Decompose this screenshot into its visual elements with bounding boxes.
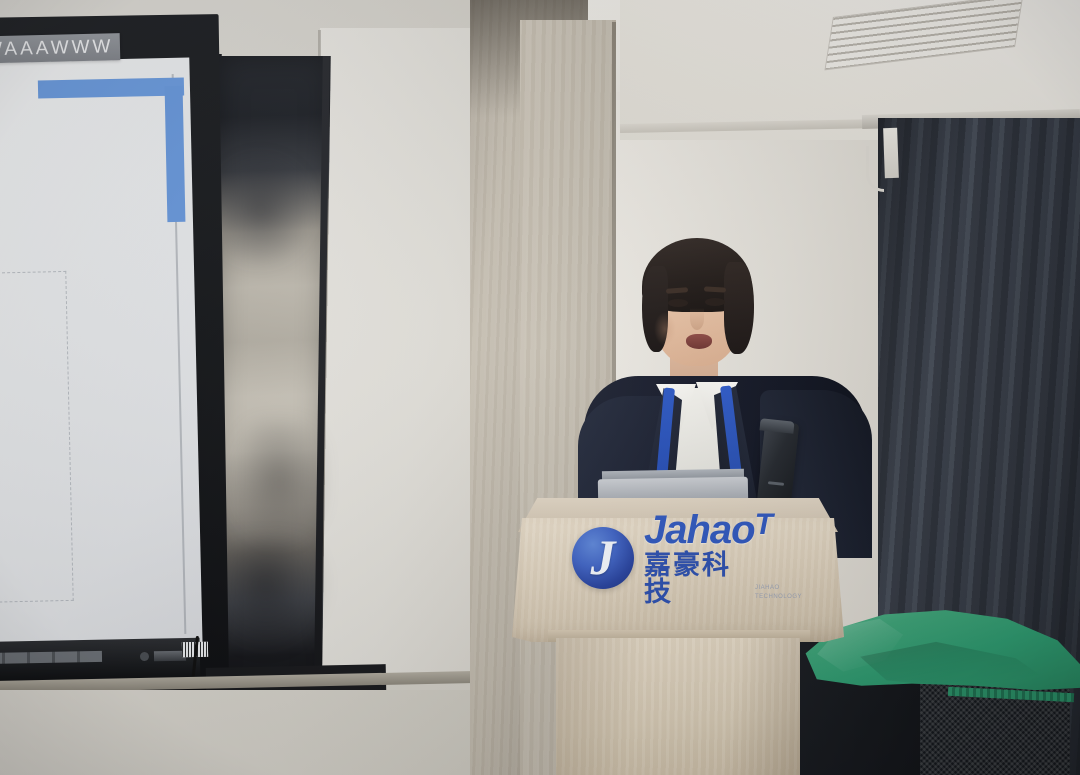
mirror-reflection-b xyxy=(224,420,324,550)
eye-left xyxy=(668,299,688,307)
podium-base-shading xyxy=(556,638,800,775)
logo-orb-j-icon xyxy=(572,527,634,589)
logo-brand-en-main: Jahao xyxy=(644,508,755,552)
logo-brand-cn: 嘉豪科技 xyxy=(644,552,749,606)
blue-bracket-horizontal xyxy=(38,77,184,98)
podium-brand-logo: JahaoT 嘉豪科技 JIAHAO TECHNOLOGY xyxy=(572,512,802,604)
audio-jack-port-icon xyxy=(140,652,149,661)
presentation-photo: SWAAAWWW xyxy=(0,0,1080,775)
left-wall-lower xyxy=(0,690,470,775)
left-wall-upper-panel xyxy=(320,28,475,683)
eye-right xyxy=(705,298,725,306)
mirror-reflection-c xyxy=(218,540,324,650)
blue-bracket-vertical xyxy=(165,86,186,222)
mirror-reflection-a xyxy=(222,150,318,270)
nose xyxy=(690,308,704,330)
display-toolbar[interactable]: SWAAAWWW xyxy=(0,33,120,64)
logo-brand-sub: JIAHAO TECHNOLOGY xyxy=(755,584,802,606)
logo-cn-row: 嘉豪科技 JIAHAO TECHNOLOGY xyxy=(644,552,802,606)
logo-sub-line1: JIAHAO xyxy=(755,585,780,591)
logo-sub-line2: TECHNOLOGY xyxy=(755,594,802,600)
logo-text-block: JahaoT 嘉豪科技 JIAHAO TECHNOLOGY xyxy=(644,510,802,606)
wall-plate xyxy=(883,128,899,178)
mouth xyxy=(686,334,712,349)
hair-side-right xyxy=(724,262,754,354)
cheek-shading xyxy=(654,312,676,346)
logo-brand-en-suffix: T xyxy=(755,508,772,541)
dashed-selection-rectangle xyxy=(0,271,74,603)
logo-brand-en: JahaoT xyxy=(644,510,802,550)
toolbar-text: SWAAAWWW xyxy=(0,36,114,62)
eyebrow-right xyxy=(704,286,726,292)
